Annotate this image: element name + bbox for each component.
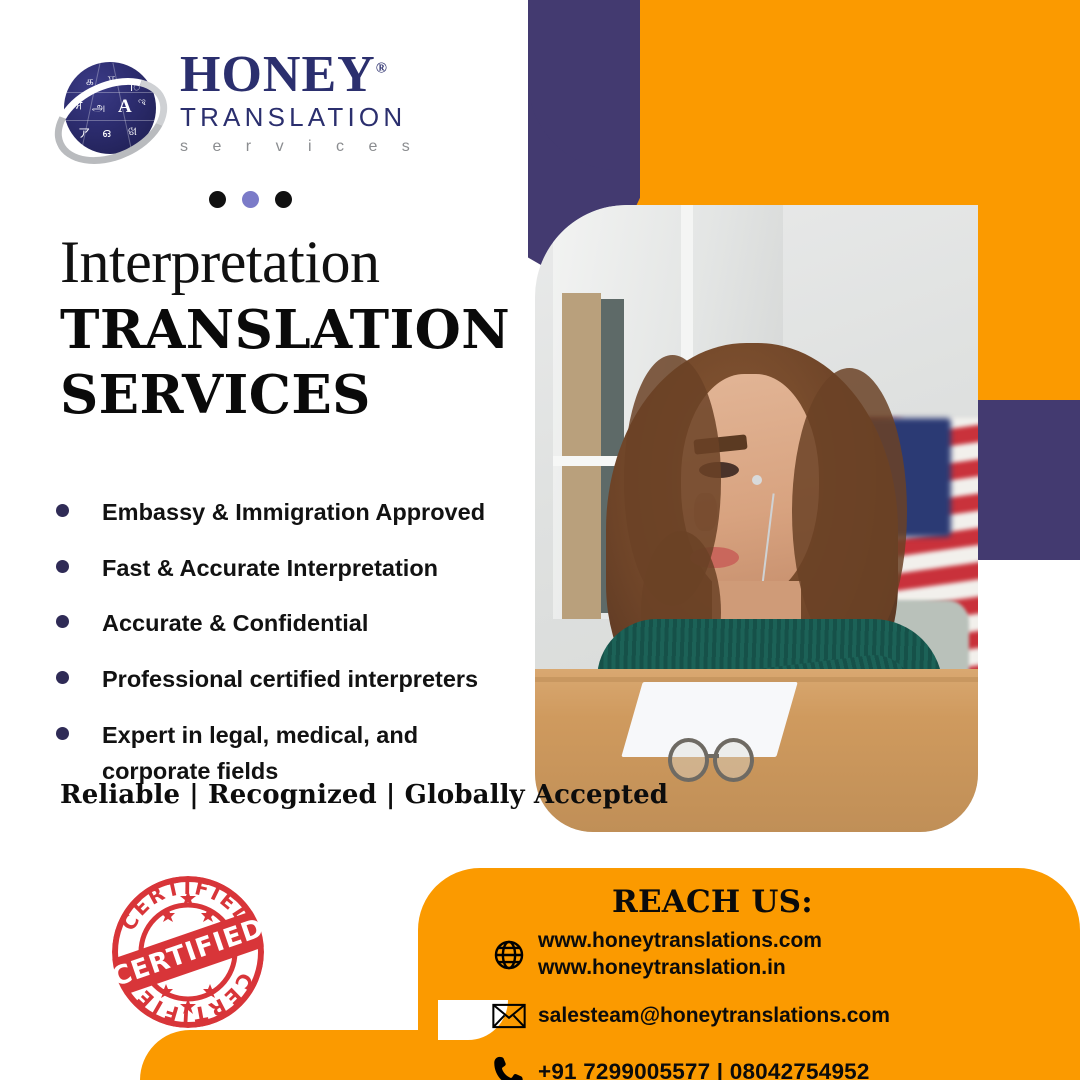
headline-main: TRANSLATION SERVICES (60, 298, 530, 427)
contact-phone-row[interactable]: +91 7299005577 | 08042754952 (492, 1051, 1052, 1080)
registered-mark: ® (376, 61, 388, 77)
bullet-icon (56, 615, 69, 628)
headline-line-2: SERVICES (60, 363, 530, 428)
headline-line-1: TRANSLATION (60, 298, 530, 363)
contact-email-row[interactable]: salesteam@honeytranslations.com (492, 995, 1052, 1037)
logo-translation-text: TRANSLATION (180, 101, 480, 134)
feature-text: Fast & Accurate Interpretation (102, 551, 438, 587)
brand-logo: க ম ि ਅ அ A ಇ ア ഒ ଖ HONEY® TRANSLATION s… (56, 48, 416, 176)
website-text: www.honeytranslations.com www.honeytrans… (538, 928, 822, 981)
list-item: Professional certified interpreters (56, 662, 536, 698)
logo-honey-text: HONEY (180, 46, 376, 103)
headline-script: Interpretation (60, 232, 530, 292)
dot-1 (209, 191, 226, 208)
website-line-2[interactable]: www.honeytranslation.in (538, 955, 822, 982)
interpreter-photo (535, 205, 978, 832)
website-line-1[interactable]: www.honeytranslations.com (538, 928, 822, 955)
contact-website-row[interactable]: www.honeytranslations.com www.honeytrans… (492, 928, 1052, 981)
feature-text: Embassy & Immigration Approved (102, 495, 485, 531)
globe-icon (492, 934, 538, 976)
envelope-icon (492, 995, 538, 1037)
dot-divider (209, 191, 292, 208)
bullet-icon (56, 560, 69, 573)
certified-stamp: CERTIFIED CERTIFIED CERTIFIED (108, 872, 268, 1032)
feature-text: Expert in legal, medical, and corporate … (102, 718, 462, 789)
dot-2 (242, 191, 259, 208)
list-item: Embassy & Immigration Approved (56, 495, 536, 531)
email-text[interactable]: salesteam@honeytranslations.com (538, 1003, 890, 1030)
list-item: Fast & Accurate Interpretation (56, 551, 536, 587)
headline-block: Interpretation TRANSLATION SERVICES (60, 232, 530, 427)
globe-icon: க ম ि ਅ அ A ಇ ア ഒ ଖ (56, 56, 166, 166)
feature-list: Embassy & Immigration Approved Fast & Ac… (56, 495, 536, 809)
bullet-icon (56, 727, 69, 740)
phone-text[interactable]: +91 7299005577 | 08042754952 (538, 1058, 870, 1080)
feature-text: Professional certified interpreters (102, 662, 478, 698)
dot-3 (275, 191, 292, 208)
poster-canvas: க ম ि ਅ அ A ಇ ア ഒ ଖ HONEY® TRANSLATION s… (0, 0, 1080, 1080)
eyeglasses (668, 738, 765, 782)
bullet-icon (56, 671, 69, 684)
phone-icon (492, 1051, 538, 1080)
logo-services-text: s e r v i c e s (180, 134, 480, 160)
tagline: Reliable | Recognized | Globally Accepte… (60, 780, 668, 810)
feature-text: Accurate & Confidential (102, 606, 368, 642)
list-item: Expert in legal, medical, and corporate … (56, 718, 536, 789)
list-item: Accurate & Confidential (56, 606, 536, 642)
bullet-icon (56, 504, 69, 517)
contact-list: www.honeytranslations.com www.honeytrans… (492, 928, 1052, 1080)
reach-us-heading: REACH US: (612, 884, 813, 920)
logo-wordmark: HONEY® (180, 48, 480, 101)
